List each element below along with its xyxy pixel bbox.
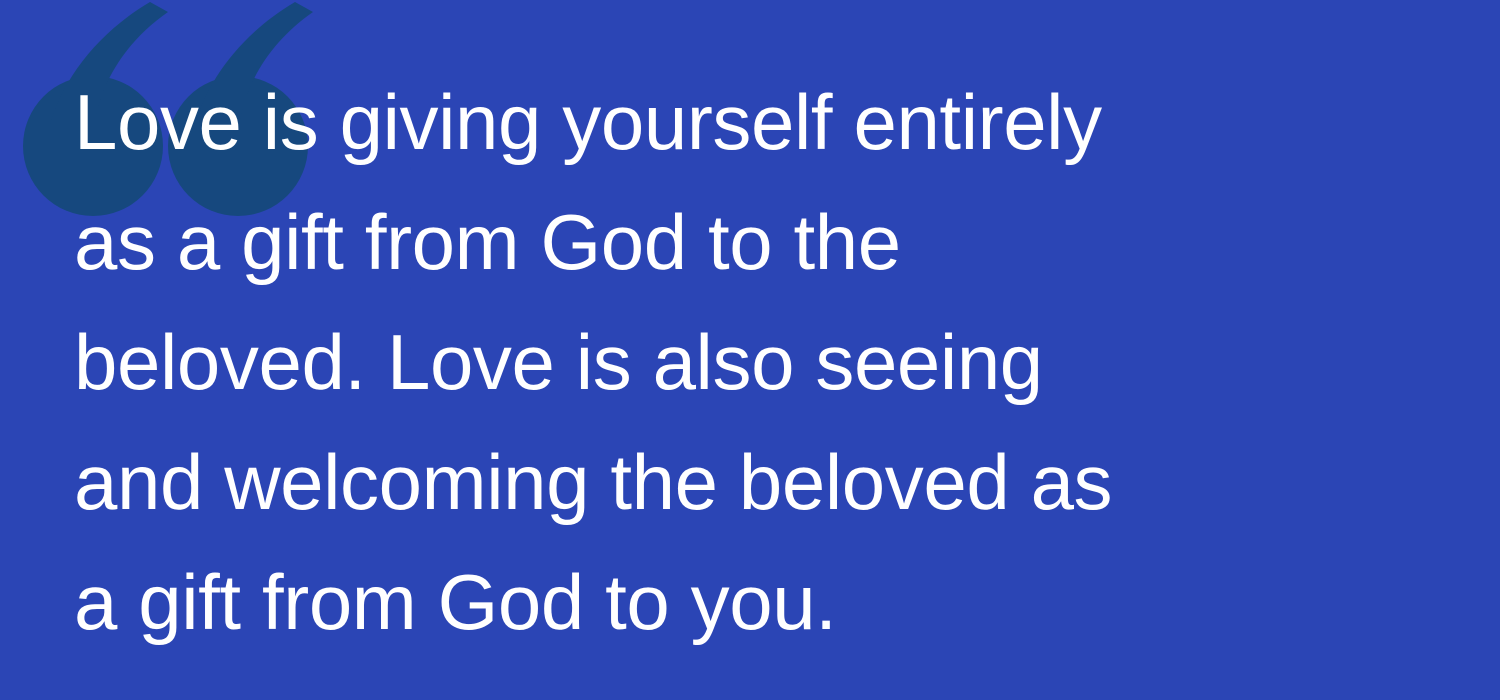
quote-line: and welcoming the beloved as	[74, 422, 1454, 542]
quote-line: Love is giving yourself entirely	[74, 62, 1454, 182]
quote-line: beloved. Love is also seeing	[74, 302, 1454, 422]
quote-text: Love is giving yourself entirely as a gi…	[74, 62, 1454, 662]
quote-line: a gift from God to you.	[74, 542, 1454, 662]
quote-line: as a gift from God to the	[74, 182, 1454, 302]
quote-card: Love is giving yourself entirely as a gi…	[0, 0, 1500, 700]
